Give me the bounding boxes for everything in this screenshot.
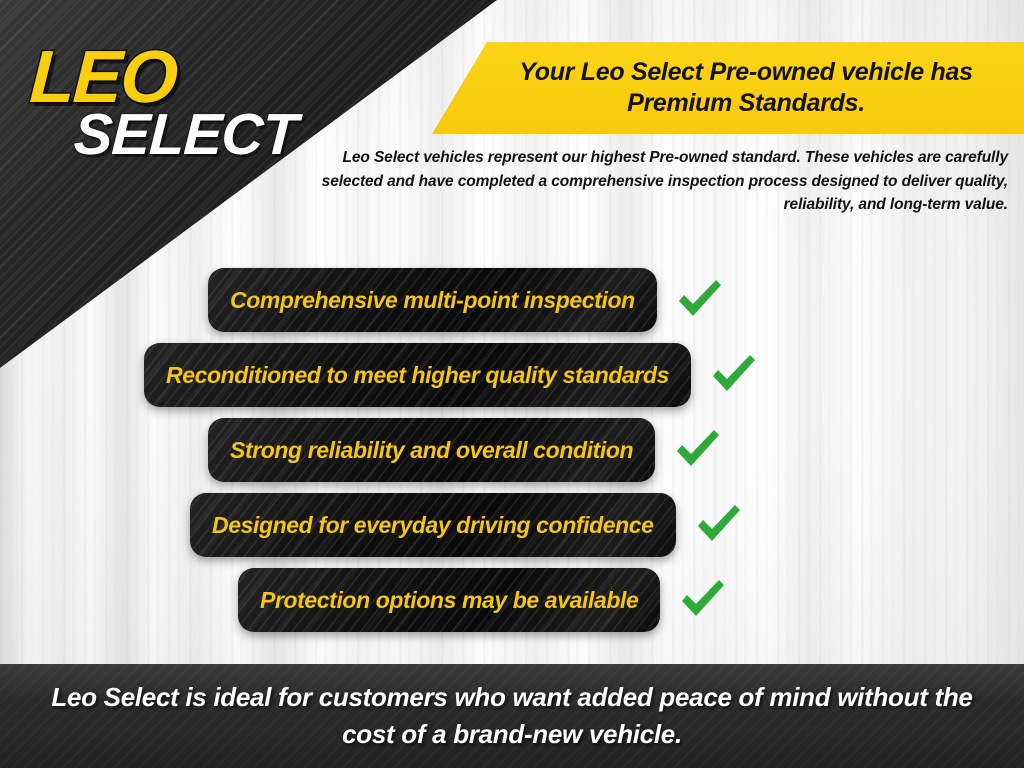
leo-select-poster: LEO SELECT Your Leo Select Pre-owned veh… [0,0,1024,768]
check-icon [690,497,746,553]
feature-label: Comprehensive multi-point inspection [230,289,635,312]
logo-word-select: SELECT [72,106,311,164]
feature-row: Strong reliability and overall condition [208,418,725,482]
feature-row: Comprehensive multi-point inspection [208,268,727,332]
feature-row: Reconditioned to meet higher quality sta… [144,343,761,407]
check-icon [669,422,725,478]
feature-label: Designed for everyday driving confidence [212,514,654,537]
feature-list: Comprehensive multi-point inspection Rec… [0,268,1024,658]
feature-pill: Designed for everyday driving confidence [190,493,676,557]
feature-pill: Strong reliability and overall condition [208,418,655,482]
feature-label: Reconditioned to meet higher quality sta… [166,364,669,387]
feature-label: Strong reliability and overall condition [230,439,633,462]
description-paragraph: Leo Select vehicles represent our highes… [300,146,1008,217]
feature-pill: Comprehensive multi-point inspection [208,268,657,332]
feature-row: Protection options may be available [238,568,730,632]
check-icon [671,272,727,328]
feature-pill: Protection options may be available [238,568,660,632]
leo-select-logo: LEO SELECT [30,40,310,164]
feature-row: Designed for everyday driving confidence [190,493,746,557]
footer-tagline: Leo Select is ideal for customers who wa… [42,679,982,753]
headline-banner: Your Leo Select Pre-owned vehicle has Pr… [432,42,1024,134]
footer-banner: Leo Select is ideal for customers who wa… [0,664,1024,768]
feature-label: Protection options may be available [260,589,638,612]
check-icon [705,347,761,403]
headline-text: Your Leo Select Pre-owned vehicle has Pr… [476,57,1016,120]
feature-pill: Reconditioned to meet higher quality sta… [144,343,691,407]
check-icon [674,572,730,628]
